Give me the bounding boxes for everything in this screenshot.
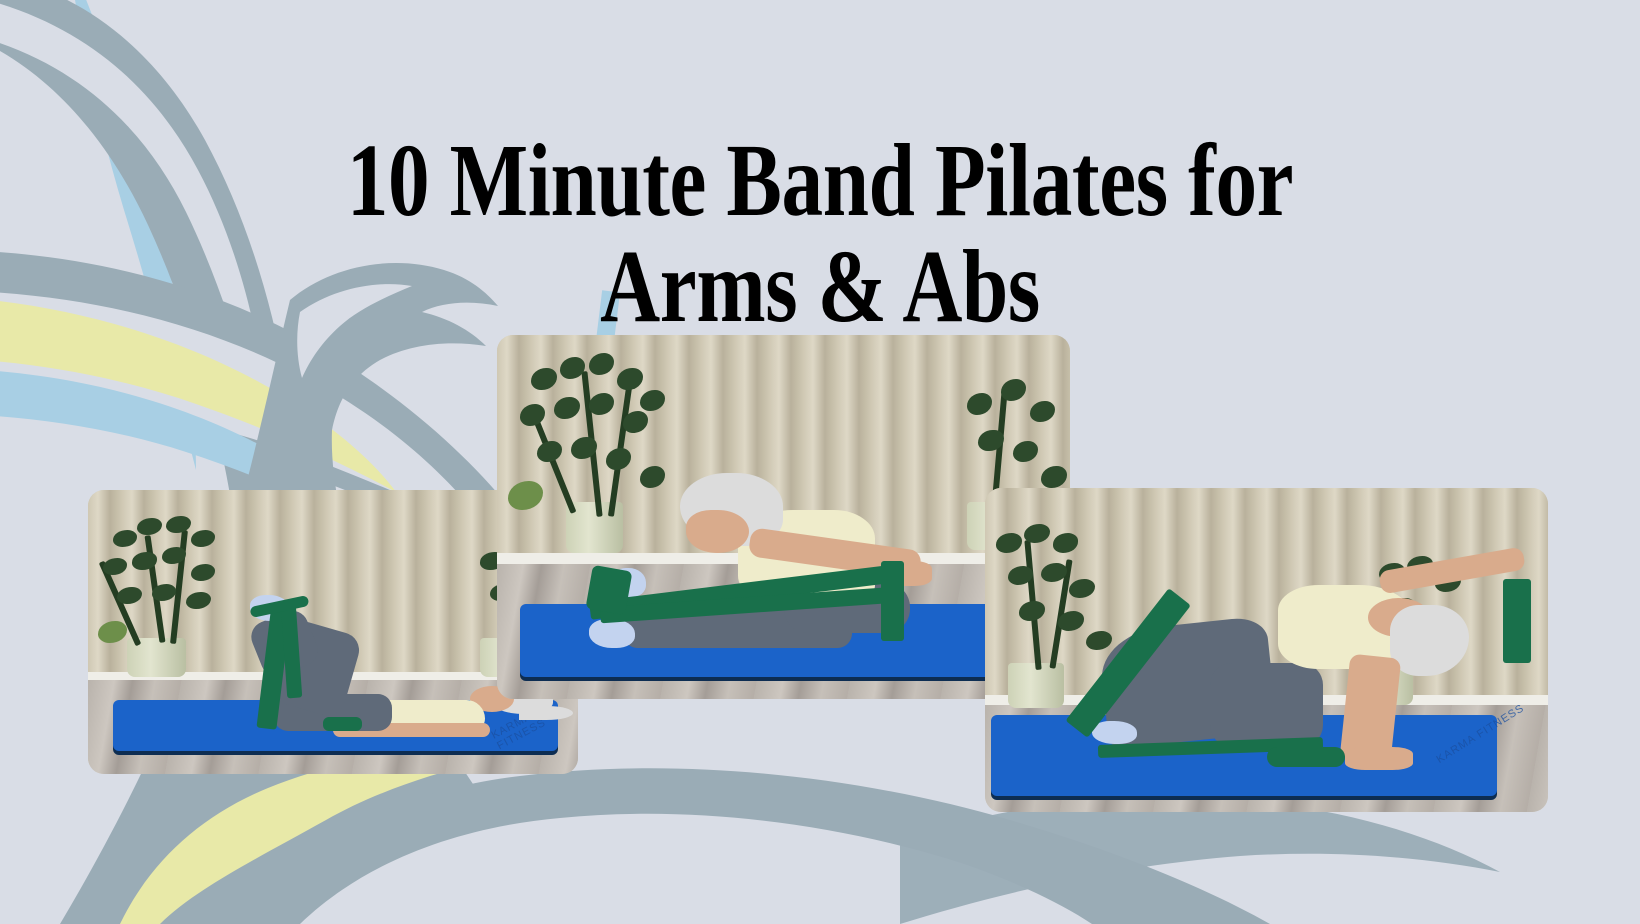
resistance-band-foot-loop [585, 565, 632, 615]
photo-right-kneeling-side-stretch[interactable]: KARMA FITNESS [985, 488, 1548, 812]
person-sock [589, 619, 635, 648]
plant-pot-left [1008, 663, 1064, 708]
photo-right-content: KARMA FITNESS [985, 488, 1548, 812]
person-sock [1092, 721, 1137, 744]
page-title: 10 Minute Band Pilates for Arms & Abs [164, 128, 1476, 340]
resistance-band-tail [1503, 579, 1531, 663]
poster-canvas: 10 Minute Band Pilates for Arms & Abs [0, 0, 1640, 924]
resistance-band-tail [881, 561, 904, 641]
tail-feather-highlight [300, 814, 1092, 924]
person-kneeling-leg [1210, 663, 1323, 747]
tail-accent-yellow [120, 749, 540, 924]
person-head [686, 510, 749, 554]
tail-sweep-right [900, 797, 1500, 924]
resistance-band-slack [1267, 747, 1346, 766]
person-hand-planted [1345, 747, 1413, 770]
person-ponytail [519, 706, 573, 720]
resistance-band-grip [323, 717, 362, 731]
